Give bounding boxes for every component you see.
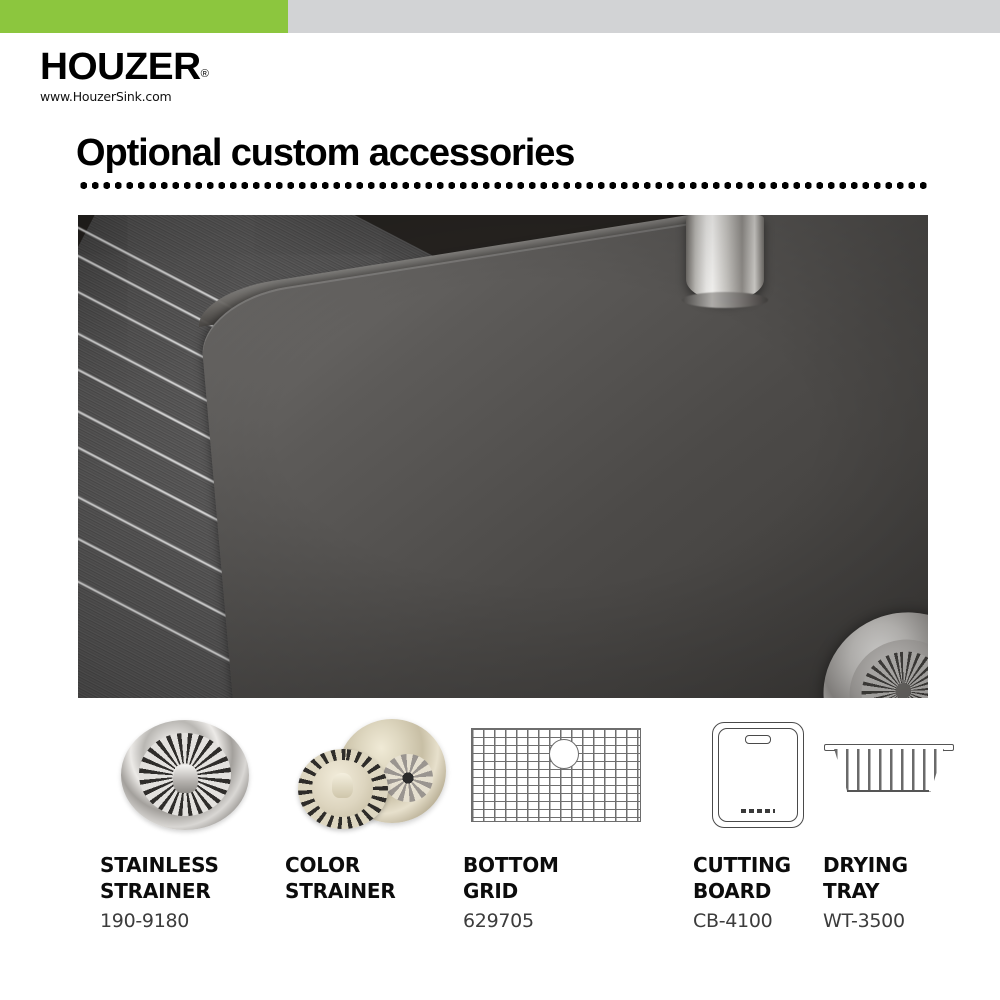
page-title: Optional custom accessories	[76, 132, 574, 175]
accessory-title-line1: DRYING	[823, 853, 953, 879]
top-accent-bar-gray	[288, 0, 1000, 33]
brand-wordmark: HOUZER®	[40, 48, 346, 86]
accessory-item-cutting-board[interactable]: CUTTING BOARD CB-4100	[693, 712, 823, 933]
accessories-row: STAINLESS STRAINER 190-9180 COLOR STRAIN…	[78, 712, 938, 972]
accessory-title-line2: TRAY	[823, 879, 953, 905]
hero-product-photo	[78, 215, 928, 698]
accessory-item-stainless-strainer[interactable]: STAINLESS STRAINER 190-9180	[100, 712, 270, 933]
stainless-strainer-icon	[100, 712, 270, 837]
accessory-sku: CB-4100	[693, 910, 823, 933]
cutting-board-icon	[693, 712, 823, 837]
accessory-title-line1: COLOR	[285, 853, 460, 879]
accessory-title: COLOR STRAINER	[285, 853, 460, 904]
bottom-grid-icon	[463, 712, 648, 837]
accessory-item-bottom-grid[interactable]: BOTTOM GRID 629705	[463, 712, 648, 933]
dotted-divider	[78, 182, 928, 189]
accessory-title: CUTTING BOARD	[693, 853, 823, 904]
accessory-title-line2: GRID	[463, 879, 648, 905]
accessory-title: STAINLESS STRAINER	[100, 853, 270, 904]
accessory-title-line2: STRAINER	[100, 879, 270, 905]
registered-trademark-icon: ®	[201, 68, 209, 80]
top-accent-bar-green	[0, 0, 288, 33]
accessory-title-line2: STRAINER	[285, 879, 460, 905]
brand-url: www.HouzerSink.com	[40, 89, 340, 104]
drying-tray-icon	[823, 712, 953, 837]
accessory-sku: 190-9180	[100, 910, 270, 933]
color-strainer-icon	[285, 712, 460, 837]
brand-logo: HOUZER® www.HouzerSink.com	[40, 48, 340, 104]
accessory-title: DRYING TRAY	[823, 853, 953, 904]
accessory-item-color-strainer[interactable]: COLOR STRAINER	[285, 712, 460, 910]
accessory-title-line1: STAINLESS	[100, 853, 270, 879]
accessory-title-line1: BOTTOM	[463, 853, 648, 879]
accessory-title: BOTTOM GRID	[463, 853, 648, 904]
accessory-sku: 629705	[463, 910, 648, 933]
accessory-title-line2: BOARD	[693, 879, 823, 905]
accessory-title-line1: CUTTING	[693, 853, 823, 879]
page-root: HOUZER® www.HouzerSink.com Optional cust…	[0, 0, 1000, 1000]
photo-faucet-base	[686, 215, 764, 301]
accessory-item-drying-tray[interactable]: DRYING TRAY WT-3500	[823, 712, 953, 933]
accessory-sku: WT-3500	[823, 910, 953, 933]
brand-wordmark-text: HOUZER	[40, 46, 201, 88]
